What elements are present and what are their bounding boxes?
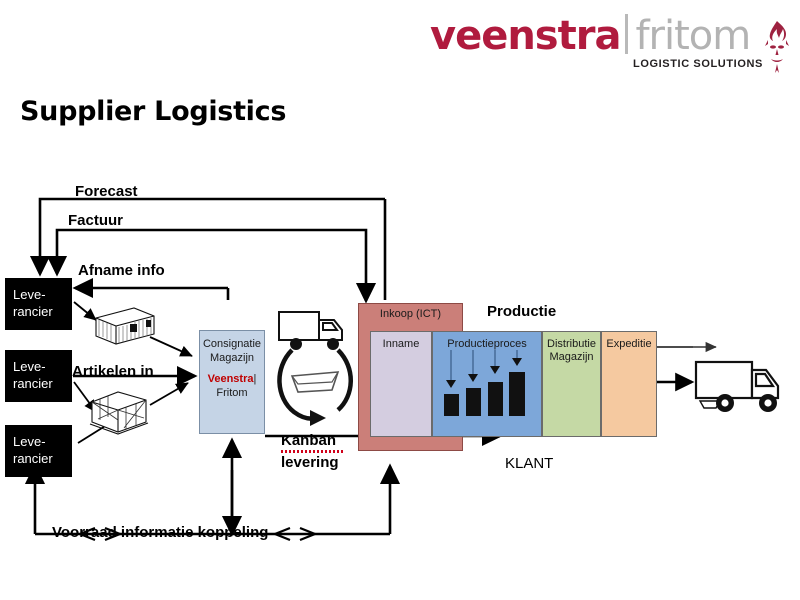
- process-cell-label: Expeditie: [602, 338, 656, 351]
- supplier-label-line1: Leve-: [13, 286, 72, 303]
- warehouse-line2: Magazijn: [200, 351, 264, 365]
- warehouse-brand-black: Fritom: [200, 386, 264, 400]
- supplier-label-line1: Leve-: [13, 433, 72, 450]
- flow-label-artikelen-in: Artikelen in: [72, 363, 154, 380]
- spellcheck-underline: [281, 450, 344, 453]
- logo-fritom-text: fritom: [635, 16, 750, 56]
- flow-label-afname-info: Afname info: [78, 262, 165, 279]
- logo-wordmark: veenstra fritom: [430, 14, 750, 56]
- flow-label-kanban-line2: levering: [281, 454, 339, 471]
- flow-label-kanban-line1: Kanban: [281, 432, 336, 449]
- supplier-label-line2: rancier: [13, 303, 72, 320]
- flow-label-voorraad: Voorraad informatie koppeling: [52, 524, 268, 541]
- supplier-box-3[interactable]: Leve- rancier: [5, 425, 72, 477]
- logo-tagline: LOGISTIC SOLUTIONS: [633, 58, 763, 70]
- shipping-container-icon: [86, 300, 158, 348]
- inkoop-label: Inkoop (ICT): [358, 308, 463, 320]
- process-cell-label2: Magazijn: [543, 351, 600, 364]
- supplier-label-line2: rancier: [13, 375, 72, 392]
- process-cell-expeditie[interactable]: Expeditie: [601, 331, 657, 437]
- page-title: Supplier Logistics: [20, 96, 286, 127]
- process-cell-inname[interactable]: Inname: [370, 331, 432, 437]
- flame-icon: [762, 20, 792, 74]
- flow-label-forecast: Forecast: [75, 183, 138, 200]
- warehouse-line1: Consignatie: [200, 337, 264, 351]
- delivery-truck-icon: [692, 356, 784, 418]
- pallet-crate-icon: [84, 388, 154, 436]
- supplier-box-1[interactable]: Leve- rancier: [5, 278, 72, 330]
- process-bars-chart: [437, 350, 537, 436]
- supplier-box-2[interactable]: Leve- rancier: [5, 350, 72, 402]
- productie-heading: Productie: [487, 303, 556, 320]
- slide-canvas: veenstra fritom LOGISTIC SOLUTIONS Suppl…: [0, 0, 800, 600]
- kanban-bin-icon: [292, 372, 338, 392]
- process-cell-distributie[interactable]: Distributie Magazijn: [542, 331, 601, 437]
- klant-label: KLANT: [505, 455, 553, 472]
- process-cell-label: Inname: [371, 338, 431, 351]
- warehouse-brand-sep: |: [254, 373, 257, 385]
- supplier-label-line1: Leve-: [13, 358, 72, 375]
- warehouse-brand: Veenstra| Fritom: [200, 372, 264, 400]
- logo-veenstra-text: veenstra: [430, 16, 620, 56]
- process-cell-label: Distributie: [543, 338, 600, 351]
- logo-divider: [625, 14, 628, 54]
- supplier-label-line2: rancier: [13, 450, 72, 467]
- company-logo: veenstra fritom LOGISTIC SOLUTIONS: [430, 14, 790, 80]
- warehouse-brand-red: Veenstra: [208, 373, 254, 385]
- consignatie-magazijn-box[interactable]: Consignatie Magazijn Veenstra| Fritom: [199, 330, 265, 434]
- circular-arrow-icon[interactable]: [276, 338, 358, 430]
- flow-label-factuur: Factuur: [68, 212, 123, 229]
